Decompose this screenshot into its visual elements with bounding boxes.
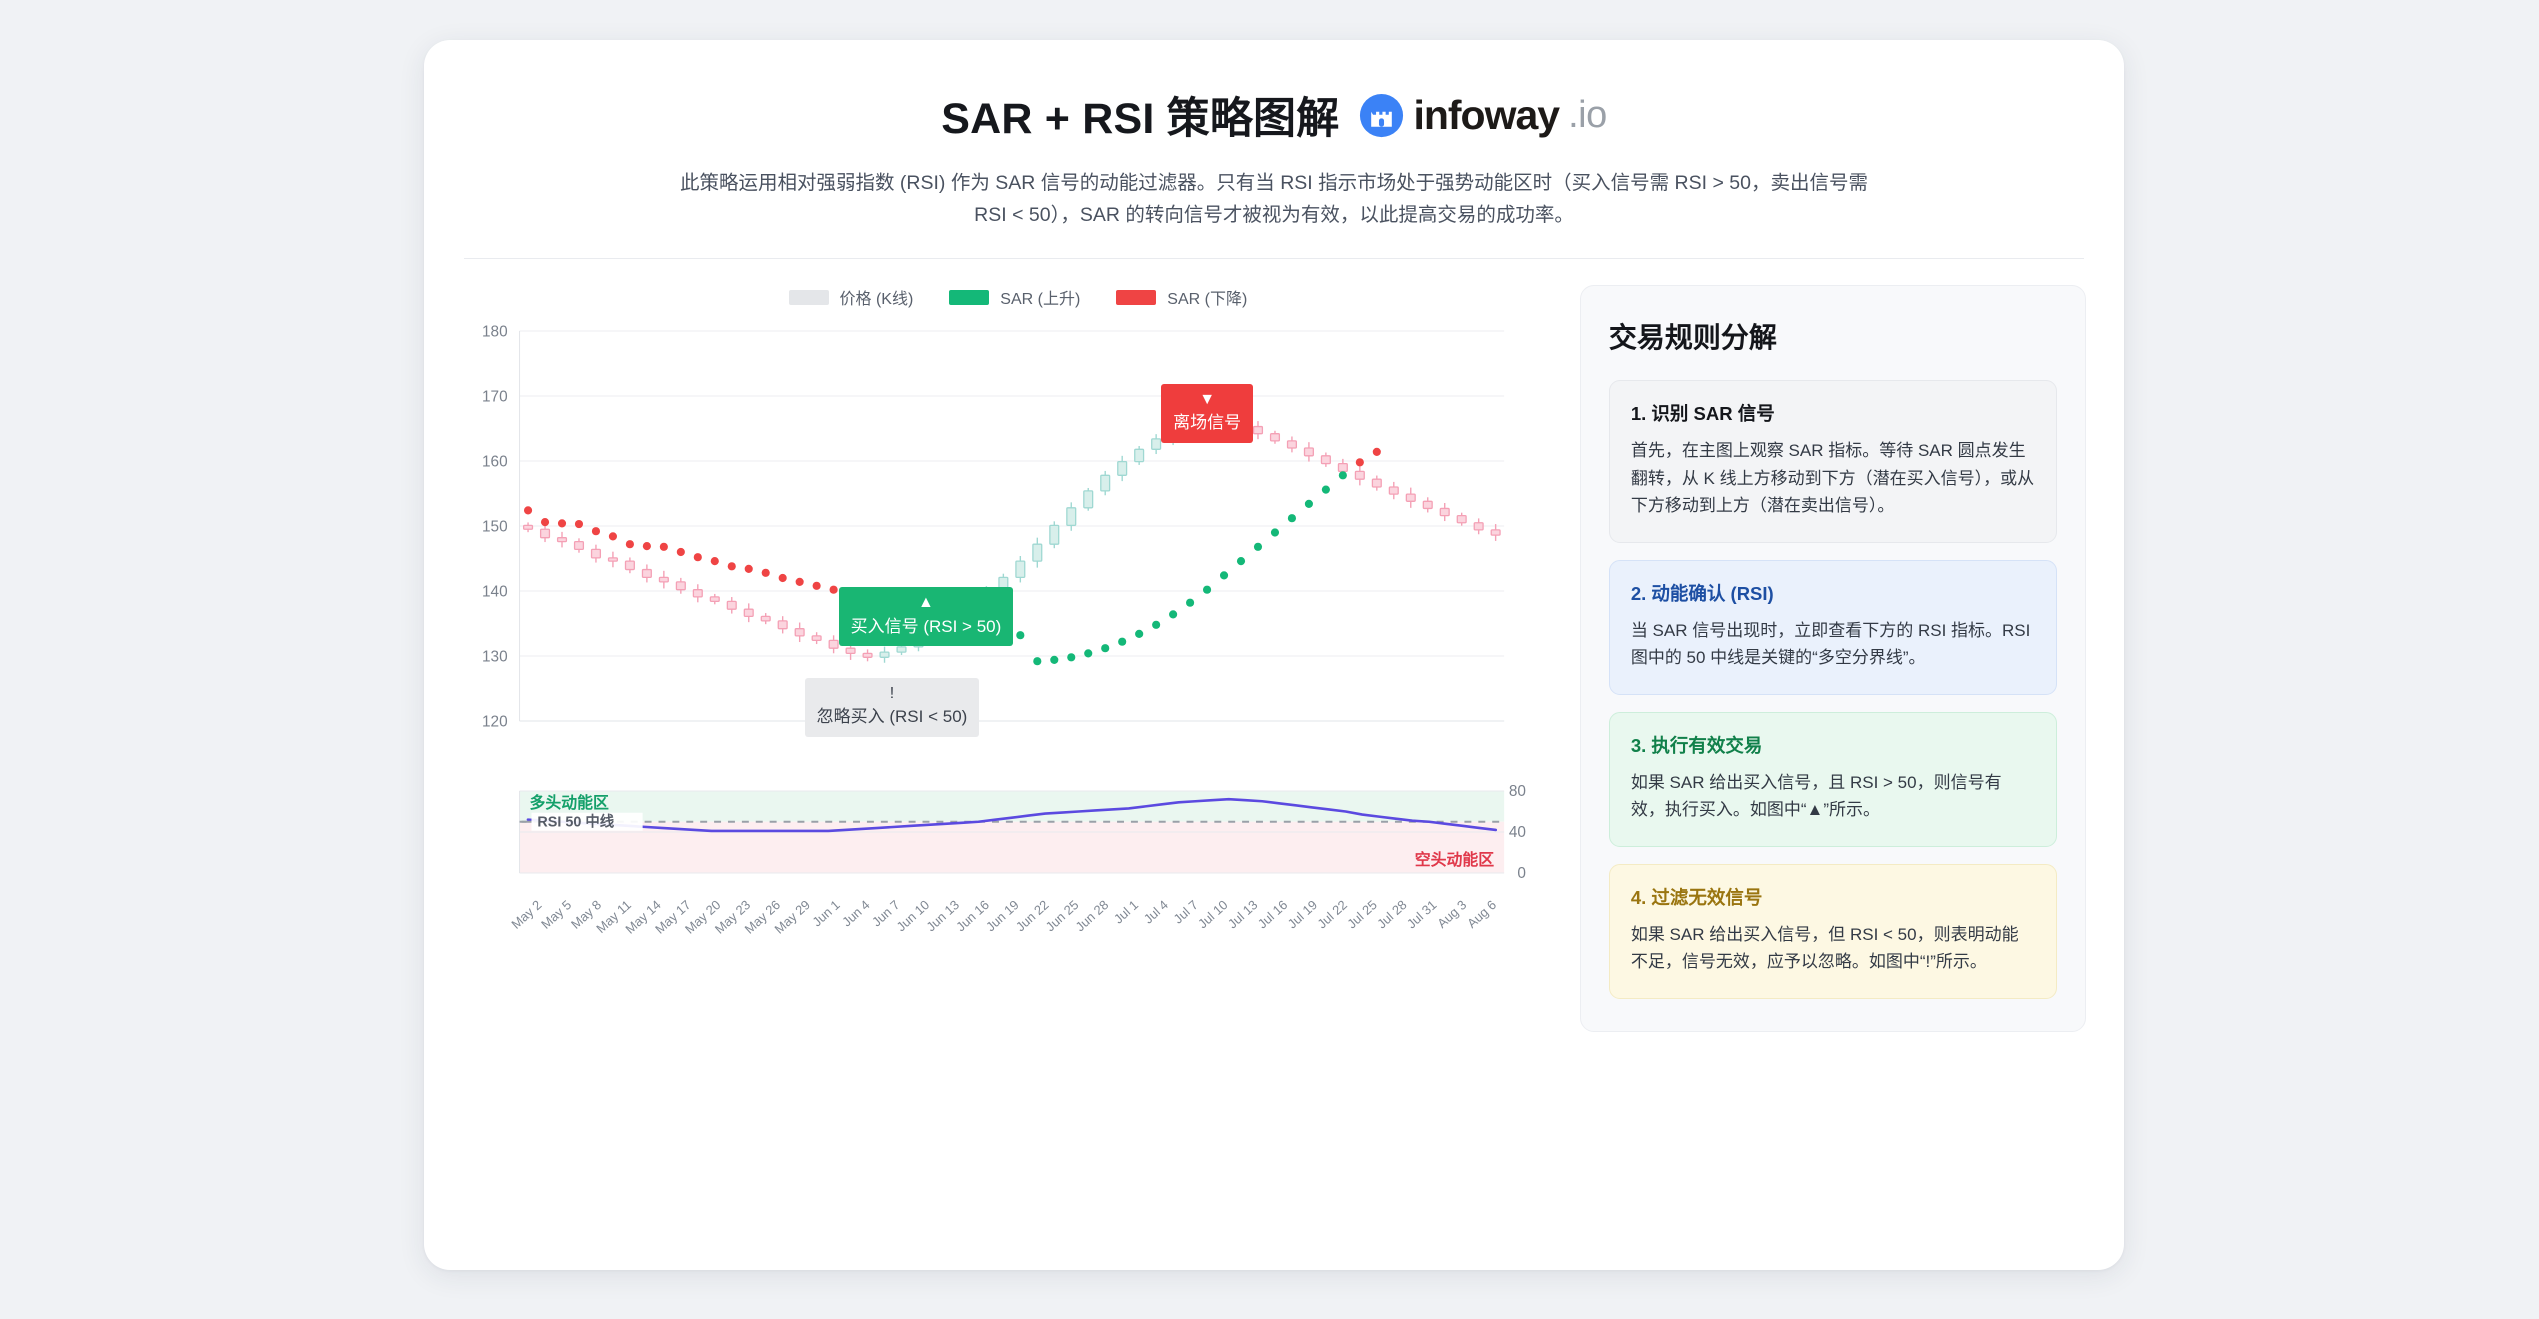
- page-title: SAR + RSI 策略图解: [941, 84, 1339, 146]
- svg-text:0: 0: [1517, 865, 1526, 882]
- x-axis-tick: Jul 28: [1374, 897, 1410, 931]
- rule-1-body: 首先，在主图上观察 SAR 指标。等待 SAR 圆点发生翻转，从 K 线上方移动…: [1631, 437, 2035, 520]
- page-subtitle: 此策略运用相对强弱指数 (RSI) 作为 SAR 信号的动能过滤器。只有当 RS…: [679, 168, 1869, 231]
- rule-2-body: 当 SAR 信号出现时，立即查看下方的 RSI 指标。RSI 图中的 50 中线…: [1631, 617, 2035, 672]
- x-axis-tick: Jul 16: [1255, 897, 1291, 931]
- brand-name: infoway: [1413, 92, 1559, 139]
- annotation-ignore-label: 忽略买入 (RSI < 50): [817, 707, 968, 726]
- legend-item-sar-down: SAR (下降): [1116, 285, 1247, 309]
- svg-text:130: 130: [482, 649, 508, 666]
- legend-item-price: 价格 (K线): [789, 285, 914, 309]
- page-header: SAR + RSI 策略图解 infoway .io 此策略运用相对强弱指数 (…: [424, 40, 2124, 231]
- price-chart-panel: 120130140150160170180 ▼ 离场信号 ▲ 买入信号 (RSI…: [462, 321, 1544, 761]
- x-axis-tick: May 2: [508, 897, 544, 932]
- rule-3-head: 3. 执行有效交易: [1631, 732, 2035, 758]
- x-axis-tick: Aug 6: [1464, 897, 1499, 931]
- rule-card-3: 3. 执行有效交易 如果 SAR 给出买入信号，且 RSI > 50，则信号有效…: [1609, 712, 2057, 847]
- x-axis-tick: Jul 25: [1344, 897, 1380, 931]
- exclamation-icon: !: [817, 685, 968, 703]
- rsi-bull-zone-label: 多头动能区: [529, 793, 608, 812]
- rules-column: 交易规则分解 1. 识别 SAR 信号 首先，在主图上观察 SAR 指标。等待 …: [1580, 285, 2086, 1032]
- rsi-bear-zone-label: 空头动能区: [1415, 850, 1494, 869]
- annotation-exit-signal[interactable]: ▼ 离场信号: [1161, 384, 1253, 443]
- svg-text:160: 160: [482, 454, 508, 471]
- svg-text:170: 170: [482, 389, 508, 406]
- x-axis-tick: Jul 4: [1141, 897, 1171, 927]
- infoway-castle-icon: [1359, 93, 1404, 138]
- x-axis-tick: Jun 25: [1043, 897, 1082, 934]
- x-axis-tick: Jul 10: [1195, 897, 1231, 931]
- x-axis-tick: Jun 1: [809, 897, 842, 929]
- x-axis-tick: Jul 22: [1314, 897, 1350, 931]
- exit-triangle-icon: ▼: [1173, 391, 1241, 409]
- annotation-buy-label: 买入信号 (RSI > 50): [851, 617, 1002, 636]
- rule-4-body: 如果 SAR 给出买入信号，但 RSI < 50，则表明动能不足，信号无效，应予…: [1631, 921, 2035, 976]
- rule-4-head: 4. 过滤无效信号: [1631, 884, 2035, 910]
- brand-logo: infoway .io: [1359, 92, 1606, 139]
- brand-tld: .io: [1568, 94, 1607, 137]
- rule-card-4: 4. 过滤无效信号 如果 SAR 给出买入信号，但 RSI < 50，则表明动能…: [1609, 864, 2057, 999]
- buy-triangle-icon: ▲: [851, 594, 1002, 612]
- x-axis-tick: Jul 31: [1404, 897, 1440, 931]
- price-chart-svg: 120130140150160170180: [462, 321, 1544, 761]
- rule-card-1: 1. 识别 SAR 信号 首先，在主图上观察 SAR 指标。等待 SAR 圆点发…: [1609, 380, 2057, 543]
- svg-text:140: 140: [482, 584, 508, 601]
- rule-2-head: 2. 动能确认 (RSI): [1631, 580, 2035, 606]
- trading-rules-panel: 交易规则分解 1. 识别 SAR 信号 首先，在主图上观察 SAR 指标。等待 …: [1580, 285, 2086, 1032]
- svg-text:120: 120: [482, 714, 508, 731]
- legend-swatch-sar-up: [949, 290, 989, 305]
- x-axis-tick: Jul 19: [1285, 897, 1321, 931]
- svg-text:40: 40: [1509, 824, 1526, 841]
- x-axis-tick: Jun 28: [1073, 897, 1112, 934]
- x-axis: May 2May 5May 8May 11May 14May 17May 20M…: [462, 892, 1544, 967]
- legend-label-sar-down: SAR (下降): [1167, 285, 1247, 309]
- header-divider: [464, 258, 2084, 259]
- x-axis-tick: Jun 13: [923, 897, 962, 934]
- main-card: SAR + RSI 策略图解 infoway .io 此策略运用相对强弱指数 (…: [424, 40, 2124, 1270]
- x-axis-tick: Jun 16: [953, 897, 992, 934]
- x-axis-svg: May 2May 5May 8May 11May 14May 17May 20M…: [462, 892, 1544, 967]
- rsi-chart-panel: 04080多头动能区空头动能区RSI 50 中线: [462, 787, 1544, 892]
- body-split: 价格 (K线) SAR (上升) SAR (下降) 12013014015016…: [424, 285, 2124, 1032]
- annotation-buy-signal[interactable]: ▲ 买入信号 (RSI > 50): [839, 587, 1014, 646]
- title-row: SAR + RSI 策略图解 infoway .io: [424, 84, 2124, 146]
- rsi-mid-line-label: RSI 50 中线: [537, 813, 614, 831]
- chart-legend: 价格 (K线) SAR (上升) SAR (下降): [462, 285, 1544, 309]
- legend-label-sar-up: SAR (上升): [1000, 285, 1080, 309]
- x-axis-tick: Jun 10: [894, 897, 933, 934]
- rules-title: 交易规则分解: [1609, 316, 2057, 356]
- chart-column: 价格 (K线) SAR (上升) SAR (下降) 12013014015016…: [462, 285, 1544, 1032]
- legend-label-price: 价格 (K线): [840, 285, 914, 309]
- svg-text:150: 150: [482, 519, 508, 536]
- svg-text:180: 180: [482, 324, 508, 341]
- legend-item-sar-up: SAR (上升): [949, 285, 1080, 309]
- rule-3-body: 如果 SAR 给出买入信号，且 RSI > 50，则信号有效，执行买入。如图中“…: [1631, 769, 2035, 824]
- x-axis-tick: Aug 3: [1434, 897, 1469, 931]
- x-axis-tick: Jul 1: [1111, 897, 1141, 927]
- x-axis-tick: Jul 13: [1225, 897, 1261, 931]
- rule-card-2: 2. 动能确认 (RSI) 当 SAR 信号出现时，立即查看下方的 RSI 指标…: [1609, 560, 2057, 695]
- annotation-ignore-signal[interactable]: ! 忽略买入 (RSI < 50): [805, 678, 980, 737]
- x-axis-tick: Jun 19: [983, 897, 1022, 934]
- rule-1-head: 1. 识别 SAR 信号: [1631, 400, 2035, 426]
- x-axis-tick: May 5: [538, 897, 574, 932]
- x-axis-tick: Jun 22: [1013, 897, 1052, 934]
- legend-swatch-sar-down: [1116, 290, 1156, 305]
- rsi-chart-svg: 04080多头动能区空头动能区RSI 50 中线: [462, 787, 1544, 892]
- svg-text:80: 80: [1509, 783, 1526, 800]
- page-root: SAR + RSI 策略图解 infoway .io 此策略运用相对强弱指数 (…: [0, 0, 2539, 1319]
- legend-swatch-price: [789, 290, 829, 305]
- x-axis-tick: Jun 4: [839, 897, 872, 929]
- annotation-exit-label: 离场信号: [1173, 413, 1241, 432]
